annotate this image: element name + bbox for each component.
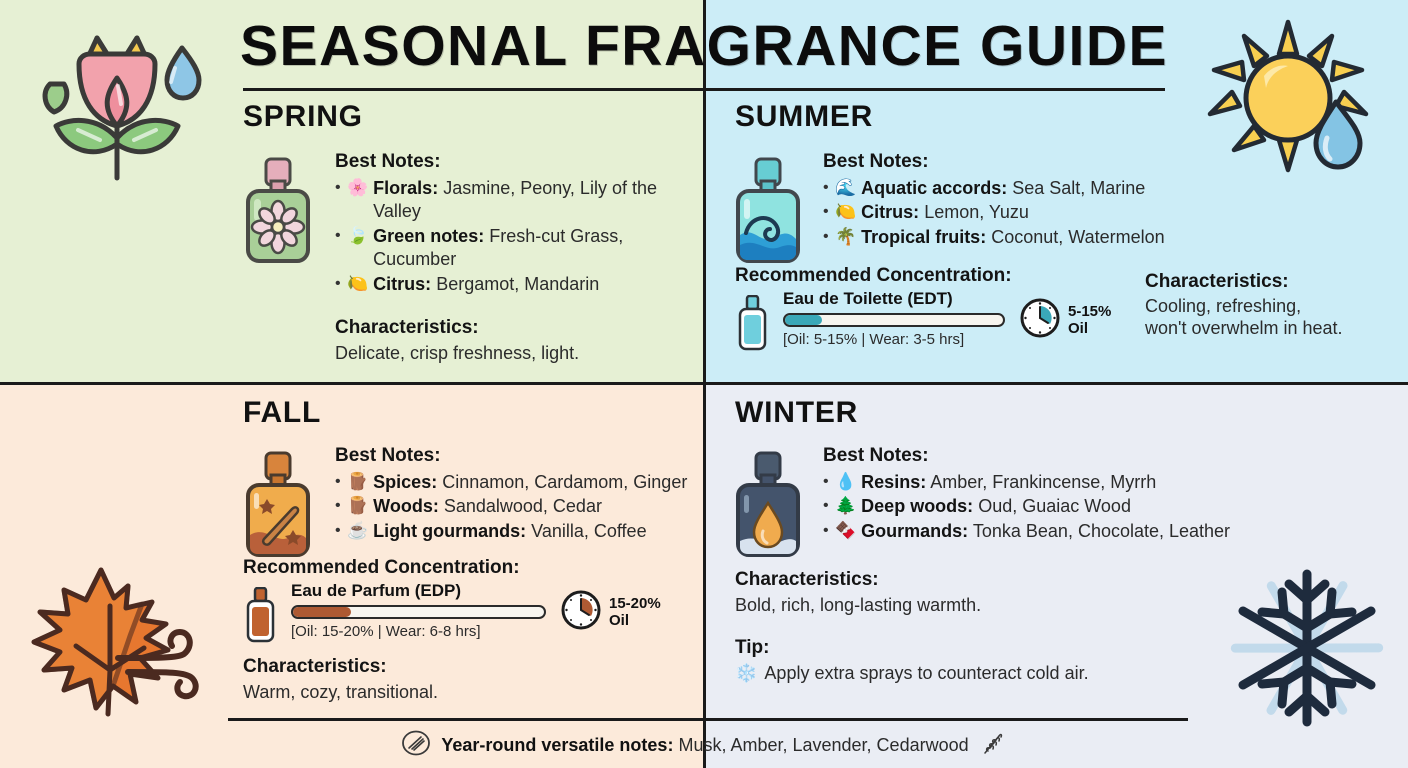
season-title-summer: SUMMER [735, 100, 1395, 134]
snowflake-icon: ❄️ [735, 663, 757, 684]
note-text: Gourmands: Tonka Bean, Chocolate, Leathe… [861, 520, 1395, 543]
note-item: • ☕ Light gourmands: Vanilla, Coffee [335, 520, 698, 543]
concentration-percent-summer: 5-15% [1068, 304, 1111, 321]
characteristics-block-summer: Characteristics: Cooling, refreshing, wo… [1145, 265, 1395, 356]
footer-divider [228, 718, 1188, 721]
characteristics-text-spring: Delicate, crisp freshness, light. [335, 343, 698, 365]
tip-block-winter: Tip: ❄️ Apply extra sprays to counteract… [735, 637, 1395, 684]
perfume-bottle-wave-icon [732, 155, 804, 272]
season-panel-fall: FALL Best Notes: [243, 396, 698, 704]
note-text: Citrus: Bergamot, Mandarin [373, 273, 698, 296]
palm-tree-icon: 🌴 [835, 226, 856, 247]
characteristics-block-fall: Characteristics: Warm, cozy, transitiona… [243, 656, 698, 704]
amber-drop-icon: 💧 [835, 471, 856, 492]
footer-label: Year-round versatile notes: [441, 735, 673, 755]
concentration-oil-label-summer: Oil [1068, 321, 1111, 338]
note-item: • 🍋 Citrus: Bergamot, Mandarin [335, 273, 698, 296]
note-label: Gourmands: [861, 521, 968, 541]
perfume-bottle-flower-icon [242, 155, 314, 272]
tip-line-winter: ❄️ Apply extra sprays to counteract cold… [735, 663, 1395, 684]
perfume-bottle-amber-drop-icon [732, 449, 804, 566]
spray-bottle-icon [243, 587, 283, 648]
notes-heading-winter: Best Notes: [823, 445, 1395, 467]
concentration-label-summer: Eau de Toilette (EDT) [783, 289, 1005, 309]
title-underline [243, 88, 1165, 91]
note-item: • 🍃 Green notes: Fresh-cut Grass, Cucumb… [335, 225, 698, 272]
note-item: • 🌴 Tropical fruits: Coconut, Watermelon [823, 226, 1395, 249]
note-label: Green notes: [373, 226, 484, 246]
tip-heading-winter: Tip: [735, 637, 1395, 659]
note-item: • 🪵 Woods: Sandalwood, Cedar [335, 495, 698, 518]
note-label: Deep woods: [861, 496, 973, 516]
note-text: Deep woods: Oud, Guaiac Wood [861, 495, 1395, 518]
note-label: Woods: [373, 496, 439, 516]
concentration-block-summer: Recommended Concentration: Eau de Toilet… [735, 265, 1135, 356]
clock-icon [560, 589, 602, 636]
note-text: Florals: Jasmine, Peony, Lily of the Val… [373, 177, 698, 224]
coffee-cup-icon: ☕ [347, 520, 368, 541]
chocolate-bar-icon: 🍫 [835, 520, 856, 541]
bullet: • [335, 225, 347, 247]
concentration-label-fall: Eau de Parfum (EDP) [291, 581, 546, 601]
concentration-percent-fall: 15-20% [609, 596, 661, 613]
note-label: Tropical fruits: [861, 227, 986, 247]
note-item: • 🍋 Citrus: Lemon, Yuzu [823, 201, 1395, 224]
tulip-flower-with-water-drop-icon [22, 8, 212, 193]
note-text: Woods: Sandalwood, Cedar [373, 495, 698, 518]
note-item: • 🌲 Deep woods: Oud, Guaiac Wood [823, 495, 1395, 518]
note-label: Citrus: [373, 274, 431, 294]
note-label: Spices: [373, 472, 437, 492]
note-value: Cinnamon, Cardamom, Ginger [442, 472, 687, 492]
wood-stump-icon: 🪵 [347, 495, 368, 516]
note-text: Light gourmands: Vanilla, Coffee [373, 520, 698, 543]
horizontal-divider [0, 382, 1408, 385]
characteristics-block-winter: Characteristics: Bold, rich, long-lastin… [735, 569, 1395, 617]
note-item: • 💧 Resins: Amber, Frankincense, Myrrh [823, 471, 1395, 494]
notes-list-summer: • 🌊 Aquatic accords: Sea Salt, Marine • … [823, 177, 1395, 249]
note-text: Green notes: Fresh-cut Grass, Cucumber [373, 225, 698, 272]
notes-heading-summer: Best Notes: [823, 151, 1395, 173]
note-item: • 🍫 Gourmands: Tonka Bean, Chocolate, Le… [823, 520, 1395, 543]
season-panel-spring: SPRING [243, 100, 698, 365]
note-label: Citrus: [861, 202, 919, 222]
note-value: Vanilla, Coffee [531, 521, 646, 541]
note-label: Resins: [861, 472, 926, 492]
notes-list-spring: • 🌸 Florals: Jasmine, Peony, Lily of the… [335, 177, 698, 296]
note-text: Citrus: Lemon, Yuzu [861, 201, 1395, 224]
clock-icon [1019, 297, 1061, 344]
note-value: Sea Salt, Marine [1012, 178, 1145, 198]
concentration-detail-summer: [Oil: 5-15% | Wear: 3-5 hrs] [783, 331, 1005, 348]
characteristics-text-fall: Warm, cozy, transitional. [243, 682, 698, 704]
concentration-detail-fall: [Oil: 15-20% | Wear: 6-8 hrs] [291, 623, 546, 640]
note-value: Bergamot, Mandarin [436, 274, 599, 294]
bullet: • [823, 471, 835, 493]
cherry-blossom-icon: 🌸 [347, 177, 368, 198]
notes-heading-spring: Best Notes: [335, 151, 698, 173]
characteristics-text-winter: Bold, rich, long-lasting warmth. [735, 595, 1395, 617]
bullet: • [335, 273, 347, 295]
characteristics-heading-spring: Characteristics: [335, 317, 698, 339]
season-panel-summer: SUMMER Best Notes: • 🌊 [735, 100, 1395, 356]
bullet: • [823, 520, 835, 542]
concentration-bar-summer [783, 313, 1005, 327]
note-value: Sandalwood, Cedar [444, 496, 602, 516]
season-title-fall: FALL [243, 396, 698, 430]
notes-block-fall: Best Notes: • 🪵 Spices: Cinnamon, Cardam… [335, 445, 698, 543]
notes-block-spring: Best Notes: • 🌸 Florals: Jasmine, Peony,… [335, 151, 698, 365]
note-text: Resins: Amber, Frankincense, Myrrh [861, 471, 1395, 494]
bullet: • [335, 177, 347, 199]
bullet: • [823, 226, 835, 248]
footer-value: Musk, Amber, Lavender, Cedarwood [678, 735, 968, 755]
footer: Year-round versatile notes: Musk, Amber,… [0, 722, 1408, 768]
characteristics-heading-summer: Characteristics: [1145, 271, 1395, 293]
leaf-icon: 🍃 [347, 225, 368, 246]
note-value: Tonka Bean, Chocolate, Leather [973, 521, 1230, 541]
note-text: Tropical fruits: Coconut, Watermelon [861, 226, 1395, 249]
bullet: • [335, 471, 347, 493]
notes-heading-fall: Best Notes: [335, 445, 698, 467]
note-label: Light gourmands: [373, 521, 526, 541]
concentration-bar-fall [291, 605, 546, 619]
season-title-spring: SPRING [243, 100, 698, 134]
bullet: • [823, 177, 835, 199]
notes-list-winter: • 💧 Resins: Amber, Frankincense, Myrrh •… [823, 471, 1395, 543]
characteristics-text-summer: Cooling, refreshing, won't overwhelm in … [1145, 296, 1345, 340]
note-label: Florals: [373, 178, 438, 198]
note-item: • 🌊 Aquatic accords: Sea Salt, Marine [823, 177, 1395, 200]
bullet: • [335, 495, 347, 517]
note-value: Amber, Frankincense, Myrrh [930, 472, 1156, 492]
tip-text-winter: Apply extra sprays to counteract cold ai… [764, 663, 1088, 684]
note-value: Oud, Guaiac Wood [978, 496, 1131, 516]
perfume-bottle-cinnamon-icon [242, 449, 314, 566]
season-panel-winter: WINTER Best Notes: • 💧 [735, 396, 1395, 684]
characteristics-block-spring: Characteristics: Delicate, crisp freshne… [335, 317, 698, 365]
concentration-bar-fill-summer [785, 315, 822, 325]
bullet: • [823, 201, 835, 223]
note-value: Lemon, Yuzu [924, 202, 1029, 222]
maple-leaf-with-wind-icon [18, 562, 223, 727]
notes-block-winter: Best Notes: • 💧 Resins: Amber, Frankince… [823, 445, 1395, 543]
season-title-winter: WINTER [735, 396, 1395, 430]
wave-icon: 🌊 [835, 177, 856, 198]
concentration-bar-fill-fall [293, 607, 351, 617]
notes-list-fall: • 🪵 Spices: Cinnamon, Cardamom, Ginger •… [335, 471, 698, 543]
notes-block-summer: Best Notes: • 🌊 Aquatic accords: Sea Sal… [823, 151, 1395, 249]
characteristics-heading-winter: Characteristics: [735, 569, 1395, 591]
bullet: • [823, 495, 835, 517]
note-text: Spices: Cinnamon, Cardamom, Ginger [373, 471, 698, 494]
concentration-block-fall: Recommended Concentration: Eau de Parfum… [243, 557, 698, 648]
note-value: Coconut, Watermelon [991, 227, 1164, 247]
footer-text: Year-round versatile notes: Musk, Amber,… [441, 735, 968, 756]
seasonal-fragrance-infographic: SEASONAL FRAGRANCE GUIDE [0, 0, 1408, 768]
note-item: • 🪵 Spices: Cinnamon, Cardamom, Ginger [335, 471, 698, 494]
wheat-sprig-icon [979, 729, 1007, 762]
note-label: Aquatic accords: [861, 178, 1007, 198]
spray-nozzle-icon [401, 728, 431, 763]
lemon-icon: 🍋 [835, 201, 856, 222]
note-item: • 🌸 Florals: Jasmine, Peony, Lily of the… [335, 177, 698, 224]
cinnamon-stick-icon: 🪵 [347, 471, 368, 492]
citrus-slice-icon: 🍋 [347, 273, 368, 294]
concentration-oil-label-fall: Oil [609, 613, 661, 630]
bullet: • [335, 520, 347, 542]
note-text: Aquatic accords: Sea Salt, Marine [861, 177, 1395, 200]
evergreen-tree-icon: 🌲 [835, 495, 856, 516]
characteristics-heading-fall: Characteristics: [243, 656, 698, 678]
spray-bottle-icon [735, 295, 775, 356]
